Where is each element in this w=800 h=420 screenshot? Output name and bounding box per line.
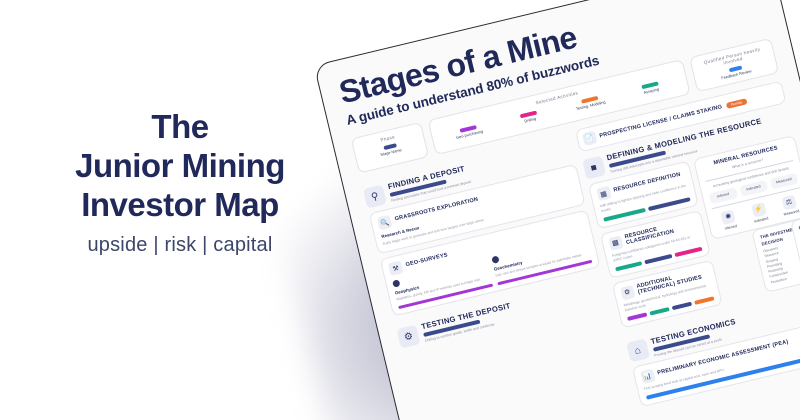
headline-block: The Junior Mining Investor Map upside | … — [0, 108, 360, 257]
headline-tagline: upside | risk | capital — [0, 234, 360, 257]
headline-line-2: Junior Mining — [0, 147, 360, 186]
tag-bar — [615, 261, 643, 271]
grid-icon: ▦ — [596, 186, 612, 202]
legend-phase-card: Phase Stage Name — [351, 122, 430, 174]
report-icon: 📊 — [640, 369, 656, 385]
layers-icon: ■ — [582, 156, 606, 180]
magnifier-icon: 🔍 — [377, 215, 393, 231]
resource-icon-label: Inferred — [717, 222, 744, 232]
map-pin-icon: ⚲ — [363, 185, 387, 209]
drill-icon: ⚙ — [397, 325, 421, 349]
card-title: GEO-SURVEYS — [405, 253, 449, 270]
resource-icon-item[interactable]: ⚖ Measured — [774, 193, 800, 218]
resource-class-box[interactable]: Measured — [770, 173, 799, 190]
tag-bar — [627, 313, 647, 321]
bullet-dot-icon — [392, 279, 400, 287]
lightbulb-icon: ⚡ — [751, 202, 767, 218]
chart-icon: ▩ — [608, 235, 624, 251]
tools-icon: ⚒ — [388, 261, 404, 277]
tag-bar — [645, 254, 673, 264]
permits-pill: Permits — [725, 98, 747, 109]
scale-icon: ⚖ — [781, 194, 797, 210]
headline-line-1: The — [0, 108, 360, 147]
resource-icon-item[interactable]: ✺ Inferred — [714, 207, 745, 232]
resource-icon-label: Indicated — [747, 215, 774, 225]
poster-surface: Stages of a Mine A guide to understand 8… — [314, 0, 800, 420]
tag-bar — [675, 247, 703, 257]
snowflake-icon: ✺ — [720, 209, 736, 225]
tag-bar — [649, 307, 669, 315]
bullet-dot-icon — [491, 256, 499, 264]
card-title: GRASSROOTS EXPLORATION — [394, 197, 479, 224]
calculator-icon: ⌂ — [626, 339, 650, 363]
tag-bar — [694, 296, 714, 304]
resource-icon-item[interactable]: ⚡ Indicated — [744, 200, 775, 225]
stages-of-a-mine-poster[interactable]: Stages of a Mine A guide to understand 8… — [314, 0, 800, 420]
headline-line-3: Investor Map — [0, 186, 360, 225]
resource-class-box[interactable]: Indicated — [739, 180, 768, 197]
flask-icon: ⚙ — [619, 285, 635, 301]
resource-class-box[interactable]: Inferred — [709, 187, 738, 204]
tag-bar — [672, 302, 692, 310]
document-icon: 📄 — [582, 131, 598, 147]
